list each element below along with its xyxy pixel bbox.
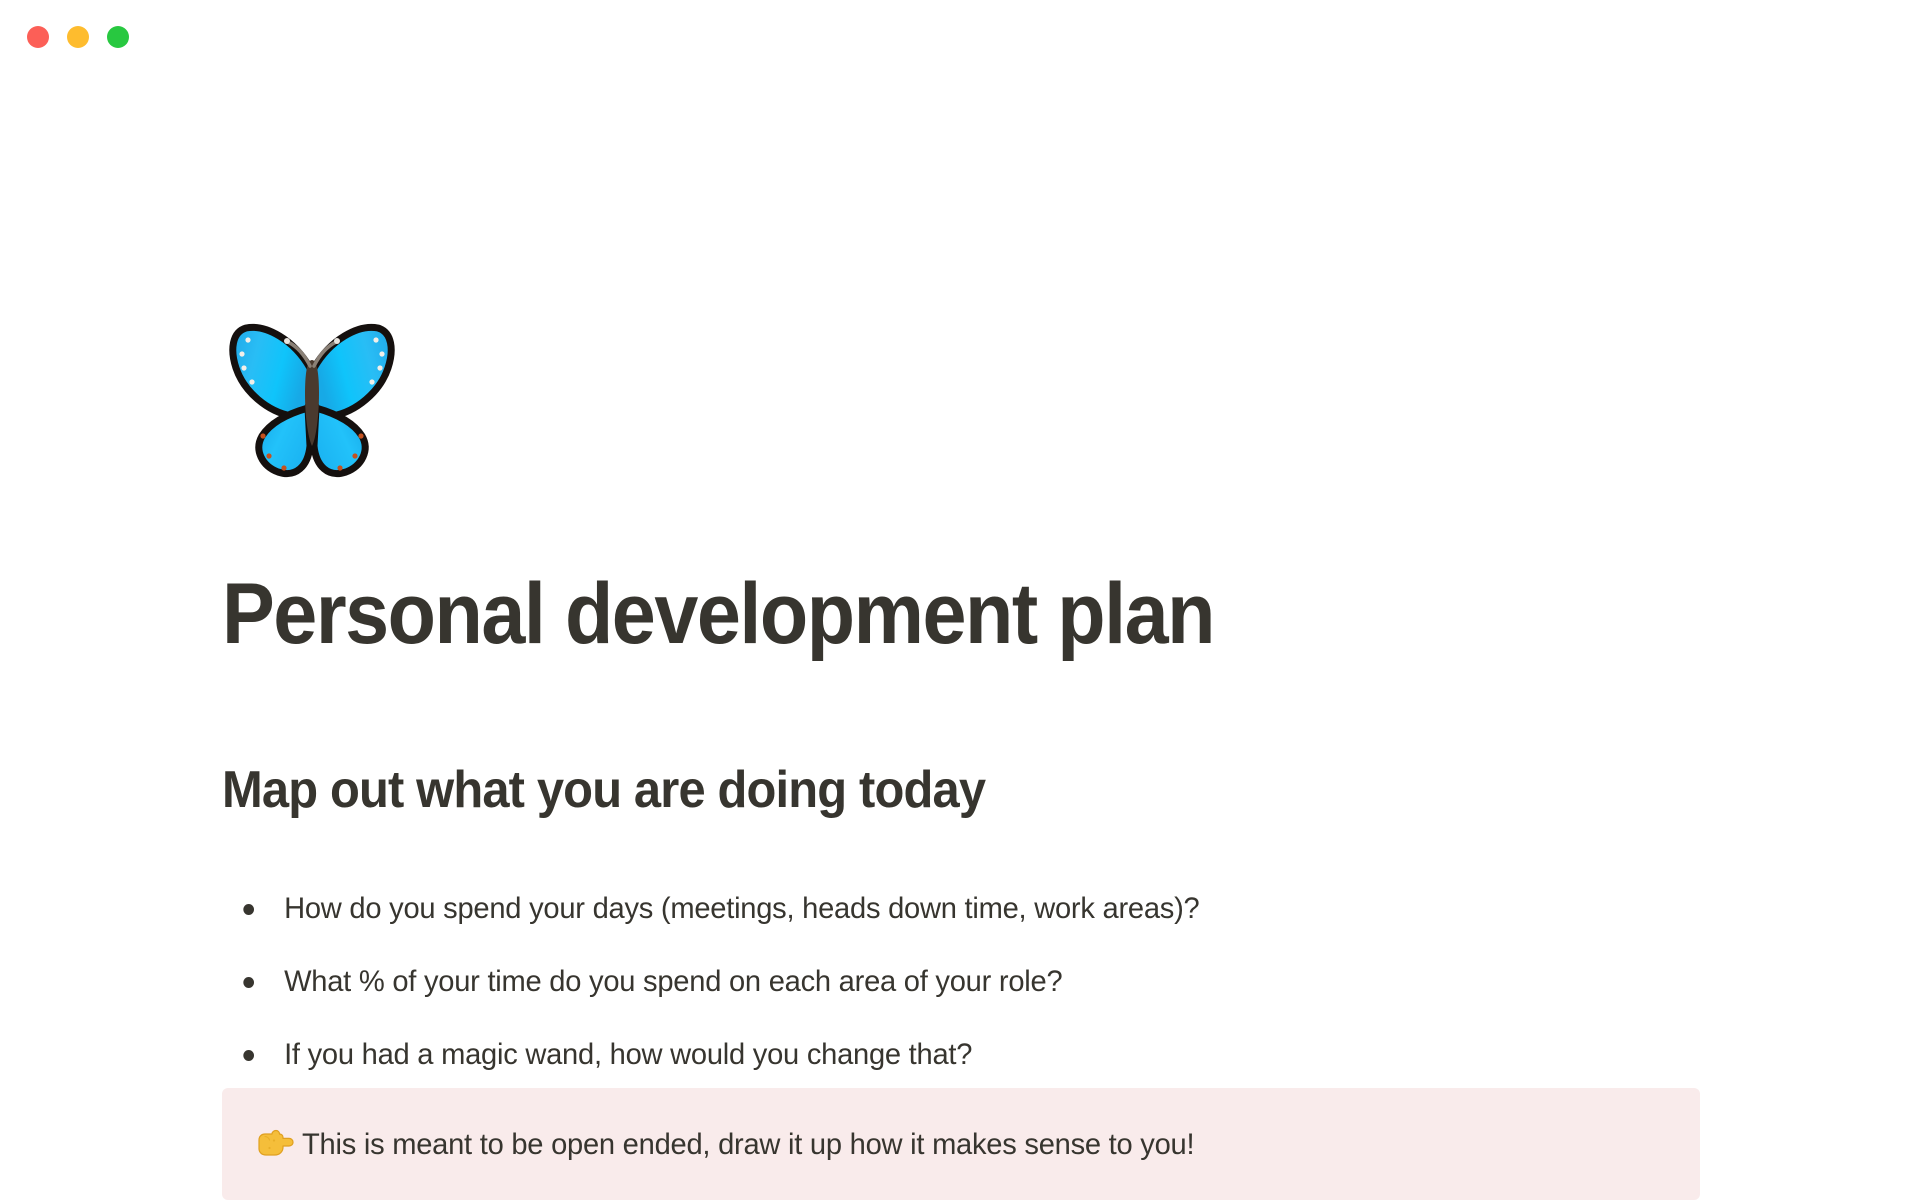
pointing-right-hand-icon[interactable] — [254, 1127, 302, 1161]
list-item[interactable]: What % of your time do you spend on each… — [222, 945, 1658, 1018]
close-window-button[interactable] — [27, 26, 49, 48]
callout-text: This is meant to be open ended, draw it … — [302, 1122, 1194, 1167]
window-traffic-lights — [27, 26, 129, 48]
list-item[interactable]: If you had a magic wand, how would you c… — [222, 1018, 1658, 1091]
bullet-dot-icon — [243, 1050, 254, 1061]
bullet-dot-icon — [243, 904, 254, 915]
list-item-label: What % of your time do you spend on each… — [284, 959, 1062, 1004]
bulleted-list: How do you spend your days (meetings, he… — [222, 872, 1702, 1091]
section-heading[interactable]: Map out what you are doing today — [222, 762, 985, 818]
page-title[interactable]: Personal development plan — [222, 570, 1214, 659]
maximize-window-button[interactable] — [107, 26, 129, 48]
minimize-window-button[interactable] — [67, 26, 89, 48]
list-item[interactable]: How do you spend your days (meetings, he… — [222, 872, 1658, 945]
callout-block[interactable]: This is meant to be open ended, draw it … — [222, 1088, 1700, 1200]
butterfly-icon[interactable] — [222, 316, 402, 486]
list-item-label: If you had a magic wand, how would you c… — [284, 1032, 972, 1077]
list-item-label: How do you spend your days (meetings, he… — [284, 886, 1199, 931]
window-title-bar — [0, 0, 1920, 74]
bullet-dot-icon — [243, 977, 254, 988]
